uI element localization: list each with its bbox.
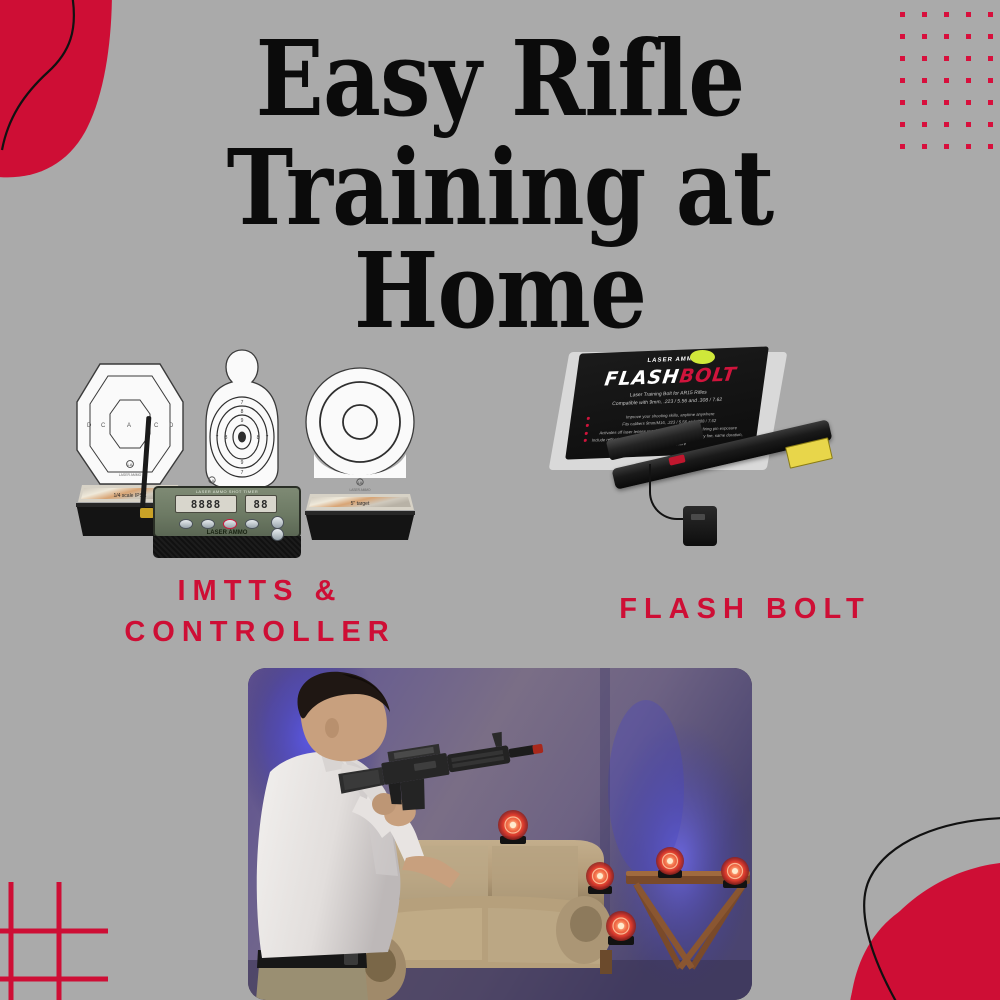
svg-text:7: 7 — [241, 400, 244, 406]
controller-logo: LASER AMMO — [153, 530, 301, 536]
product-row: D C A C D LA LASER AMMO 1/4 scale IPSC — [0, 338, 1000, 638]
headline-line-1: Easy Rifle — [70, 28, 930, 131]
flash-bolt-caption-line-1: FLASH BOLT — [545, 589, 945, 630]
headline-line-2: Training at Home — [70, 137, 930, 343]
flash-bolt-caption: FLASH BOLT — [545, 589, 945, 630]
flash-bolt-box-title: FLASHBOLT — [575, 362, 767, 391]
controller-display-main: 8888 — [175, 495, 237, 513]
imtts-caption-line-2: CONTROLLER — [60, 612, 460, 653]
controller-button-mode[interactable] — [179, 519, 193, 529]
svg-text:C: C — [101, 423, 106, 429]
svg-text:9: 9 — [241, 418, 244, 424]
svg-text:LA: LA — [128, 462, 133, 467]
product-flash-bolt: LASER AMMO FLASHBOLT Laser Training Bolt… — [545, 338, 945, 630]
controller-button-time[interactable] — [245, 519, 259, 529]
page-title: Easy Rifle Training at Home — [0, 28, 1000, 343]
svg-text:D: D — [87, 423, 92, 429]
flash-bolt-switch-adapter — [683, 506, 717, 546]
controller-button-start[interactable] — [223, 519, 237, 529]
svg-text:7: 7 — [216, 435, 219, 441]
controller-top-label: LASER AMMO SHOT TIMER — [153, 489, 301, 494]
flash-bolt-title-word-1: FLASH — [603, 366, 681, 391]
flash-bolt-switch-detail — [691, 514, 705, 520]
svg-text:8: 8 — [225, 435, 228, 441]
product-imtts: D C A C D LA LASER AMMO 1/4 scale IPSC — [60, 338, 460, 653]
svg-text:LASER AMMO: LASER AMMO — [349, 488, 371, 492]
target-round-bullseye: LA LASER AMMO 5" target — [300, 354, 420, 544]
flash-bolt-product-image: LASER AMMO FLASHBOLT Laser Training Bolt… — [545, 338, 945, 563]
svg-text:5" target: 5" target — [351, 501, 370, 507]
svg-text:8: 8 — [241, 409, 244, 415]
antenna-connector — [140, 508, 154, 518]
svg-text:C: C — [154, 423, 159, 429]
svg-text:LA: LA — [358, 481, 363, 485]
imtts-caption: IMTTS & CONTROLLER — [60, 571, 460, 653]
svg-text:7: 7 — [266, 435, 269, 441]
svg-text:9: 9 — [241, 460, 244, 466]
svg-text:LASER AMMO: LASER AMMO — [119, 473, 142, 477]
imtts-controller: LASER AMMO SHOT TIMER 8888 88 LASER AMMO — [153, 486, 301, 558]
svg-text:7: 7 — [241, 470, 244, 476]
svg-text:8: 8 — [257, 435, 260, 441]
svg-text:D: D — [169, 423, 174, 429]
controller-button-set[interactable] — [201, 519, 215, 529]
svg-text:A: A — [127, 423, 131, 429]
training-photo-illustration — [248, 668, 752, 1000]
flash-bolt-green-badge — [690, 350, 715, 364]
training-photo — [248, 668, 752, 1000]
controller-display-small: 88 — [245, 495, 277, 513]
poster-canvas: Easy Rifle Training at Home D C A C — [0, 0, 1000, 1000]
flash-bolt-title-word-2: BOLT — [678, 364, 738, 388]
bottom-left-hash-grid — [0, 882, 108, 1000]
svg-text:LA: LA — [210, 479, 215, 483]
imtts-caption-line-1: IMTTS & — [60, 571, 460, 612]
imtts-product-image: D C A C D LA LASER AMMO 1/4 scale IPSC — [60, 338, 460, 563]
bottom-right-blob-2 — [849, 862, 1000, 1000]
